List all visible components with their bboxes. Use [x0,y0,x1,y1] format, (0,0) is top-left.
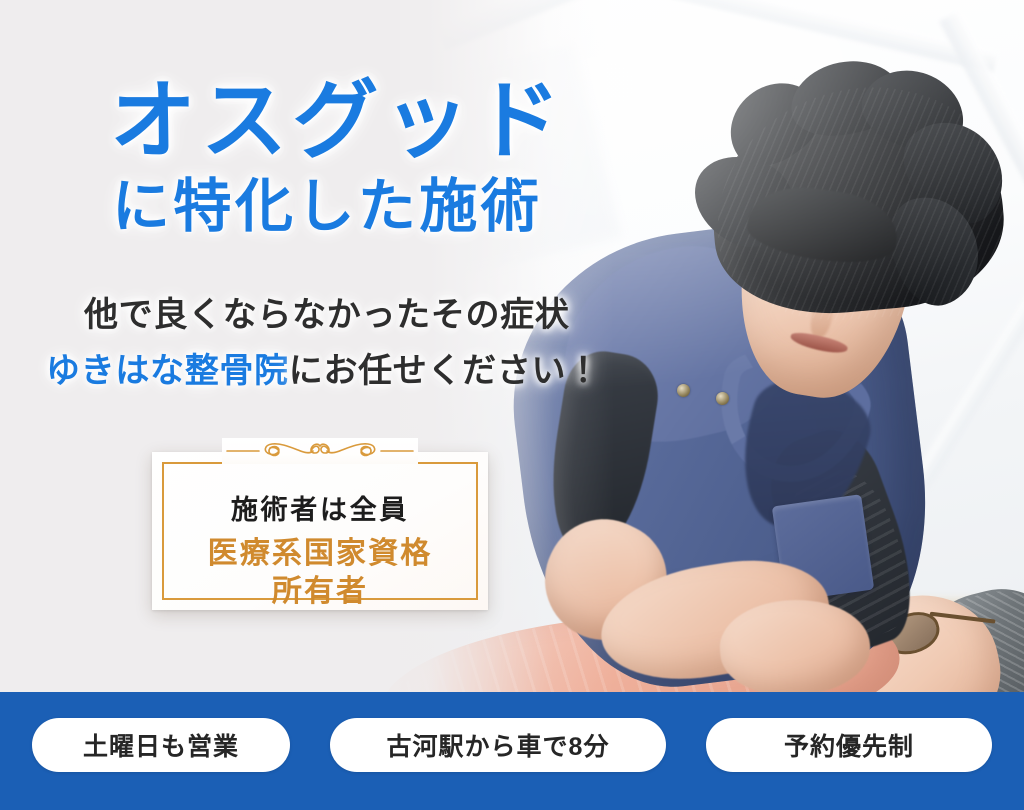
feature-bar: 土曜日も営業 古河駅から車で8分 予約優先制 [0,692,1024,810]
feature-pill-reservation-priority[interactable]: 予約優先制 [706,718,992,772]
clinic-name: ゆきはな整骨院 [46,352,289,390]
badge-line-1: 施術者は全員 [152,488,488,527]
hero-banner: オスグッド に特化した施術 他で良くならなかったその症状 ゆきはな整骨院にお任せ… [0,0,1024,810]
qualification-badge: 施術者は全員 医療系国家資格 所有者 [152,452,488,610]
subheading-line-2: ゆきはな整骨院にお任せください！ [46,354,601,388]
flourish-ornament-icon [222,438,418,464]
badge-line-3: 所有者 [152,566,488,610]
subheading-line-2-rest: にお任せください！ [289,352,601,390]
feature-pill-saturday-open[interactable]: 土曜日も営業 [32,718,290,772]
headline-primary: オスグッド [110,78,566,164]
headline-secondary: に特化した施術 [112,178,542,236]
subheading-line-1: 他で良くならなかったその症状 [84,298,570,332]
feature-pill-access[interactable]: 古河駅から車で8分 [330,718,666,772]
